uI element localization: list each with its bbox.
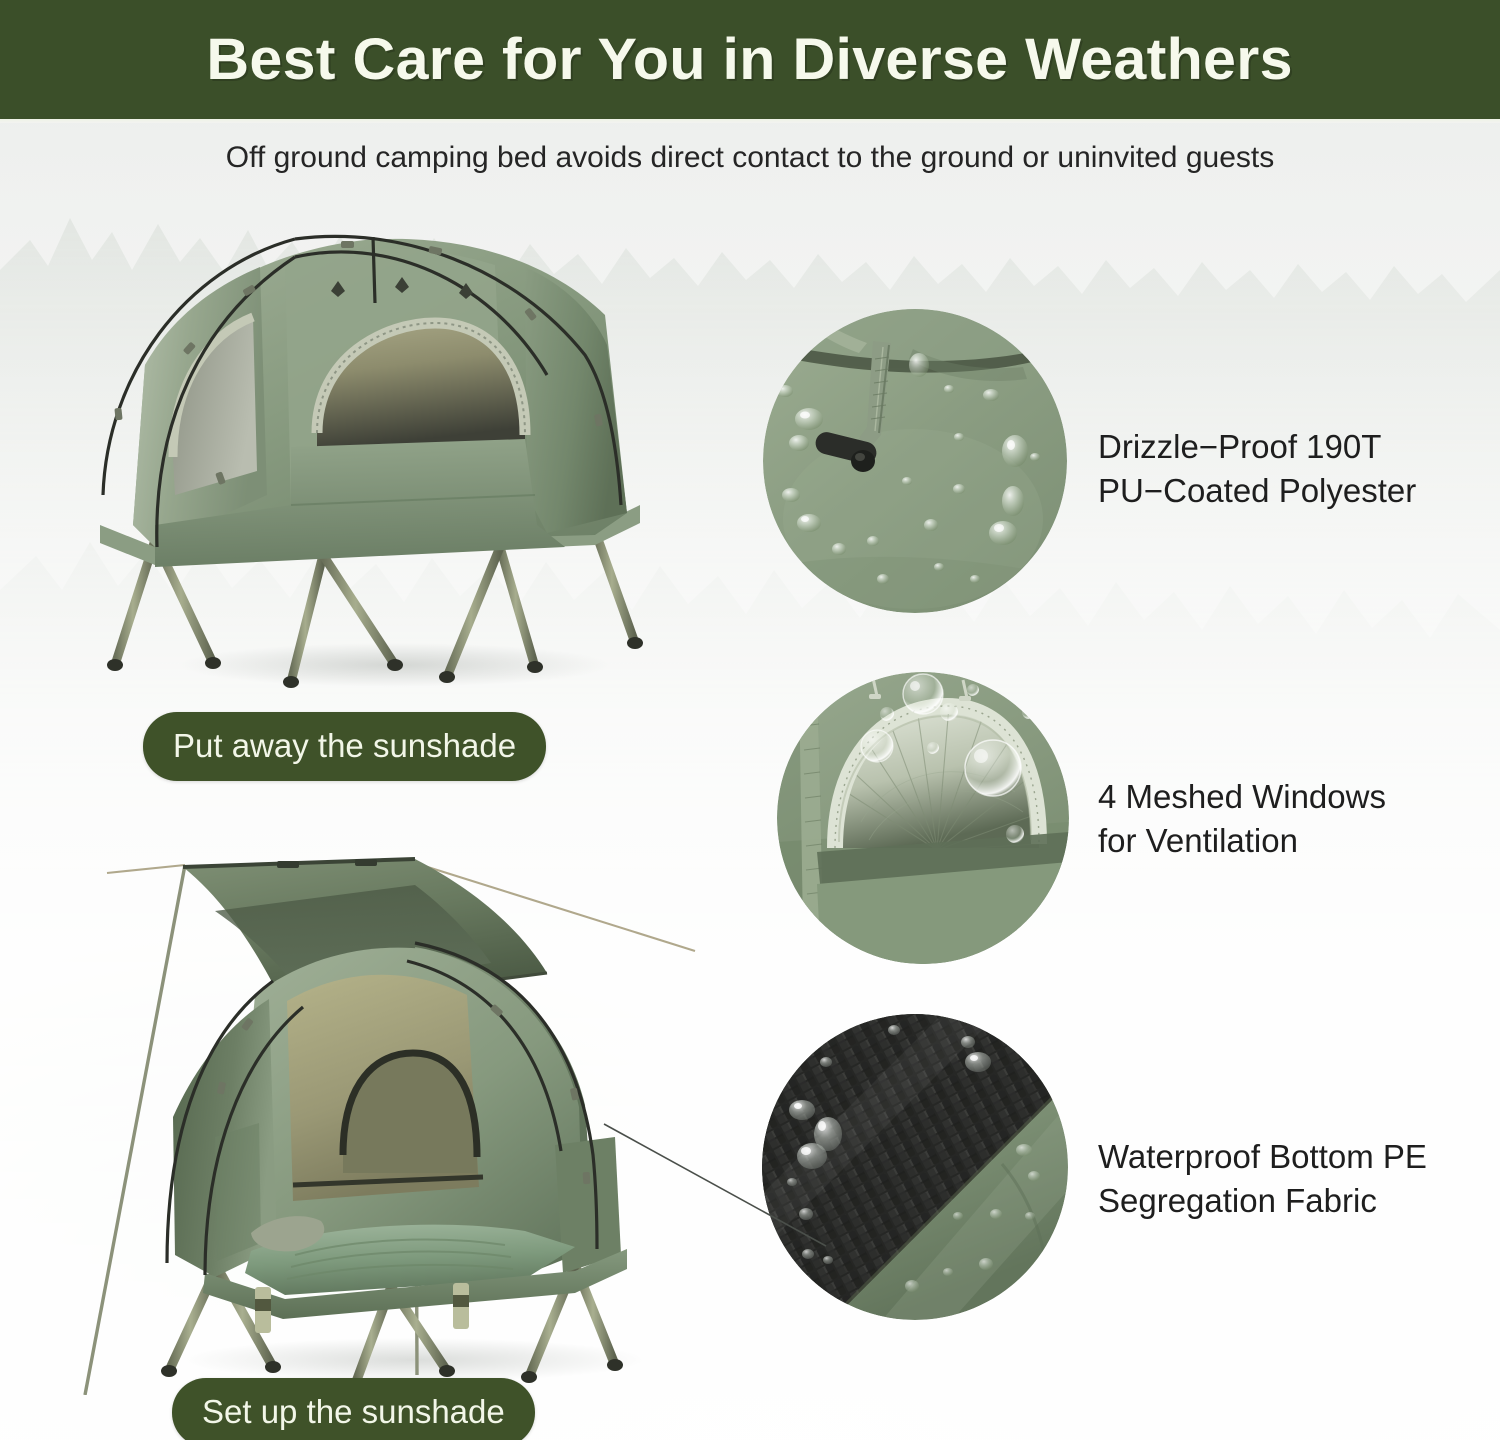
feature-label-line1: Waterproof Bottom PE <box>1098 1135 1427 1179</box>
feature-label-meshed-windows: 4 Meshed Windows for Ventilation <box>1098 775 1386 863</box>
feature-label-waterproof-bottom: Waterproof Bottom PE Segregation Fabric <box>1098 1135 1427 1223</box>
product-photo-sunshade-closed <box>95 195 675 695</box>
page-subtitle: Off ground camping bed avoids direct con… <box>0 141 1500 175</box>
feature-label-drizzle-proof: Drizzle−Proof 190T PU−Coated Polyester <box>1098 425 1416 513</box>
feature-label-line1: 4 Meshed Windows <box>1098 775 1386 819</box>
feature-label-line2: Segregation Fabric <box>1098 1179 1427 1223</box>
page-title: Best Care for You in Diverse Weathers <box>207 26 1293 93</box>
header-banner: Best Care for You in Diverse Weathers <box>0 0 1500 119</box>
feature-image-meshed-windows <box>777 672 1069 964</box>
feature-label-line1: Drizzle−Proof 190T <box>1098 425 1416 469</box>
feature-label-line2: for Ventilation <box>1098 819 1386 863</box>
callout-connector-line <box>600 1120 830 1250</box>
tent-panel-right <box>525 267 627 533</box>
header-underline <box>0 119 1500 123</box>
caption-badge-set-up-sunshade: Set up the sunshade <box>172 1378 535 1440</box>
infographic-page: Best Care for You in Diverse Weathers Of… <box>0 0 1500 1440</box>
caption-badge-put-away-sunshade: Put away the sunshade <box>143 712 546 781</box>
feature-label-line2: PU−Coated Polyester <box>1098 469 1416 513</box>
feature-image-drizzle-proof <box>763 309 1067 613</box>
